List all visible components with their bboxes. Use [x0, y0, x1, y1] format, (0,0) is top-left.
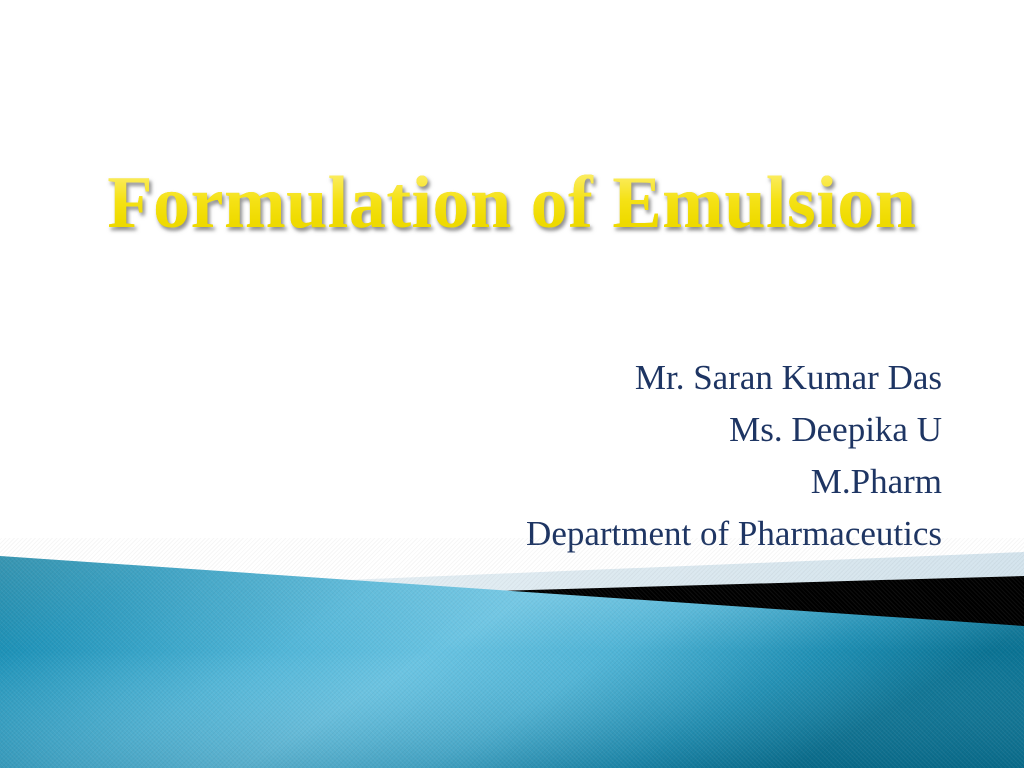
slide-title-text: Formulation of Emulsion	[107, 160, 916, 246]
subtitle-line-presenter-2: Ms. Deepika U	[182, 404, 942, 456]
slide-canvas: Formulation of Emulsion Formulation of E…	[0, 0, 1024, 768]
decoration-shapes	[0, 538, 1024, 768]
slide-title-shadow-text: Formulation of Emulsion	[107, 160, 916, 246]
slide-subtitle-block: Mr. Saran Kumar Das Ms. Deepika U M.Phar…	[182, 352, 942, 560]
slide-bottom-decoration	[0, 538, 1024, 768]
subtitle-line-presenter-1: Mr. Saran Kumar Das	[182, 352, 942, 404]
subtitle-line-degree: M.Pharm	[182, 456, 942, 508]
slide-title-shadow: Formulation of Emulsion	[0, 160, 1024, 246]
slide-title: Formulation of Emulsion	[0, 160, 1024, 246]
